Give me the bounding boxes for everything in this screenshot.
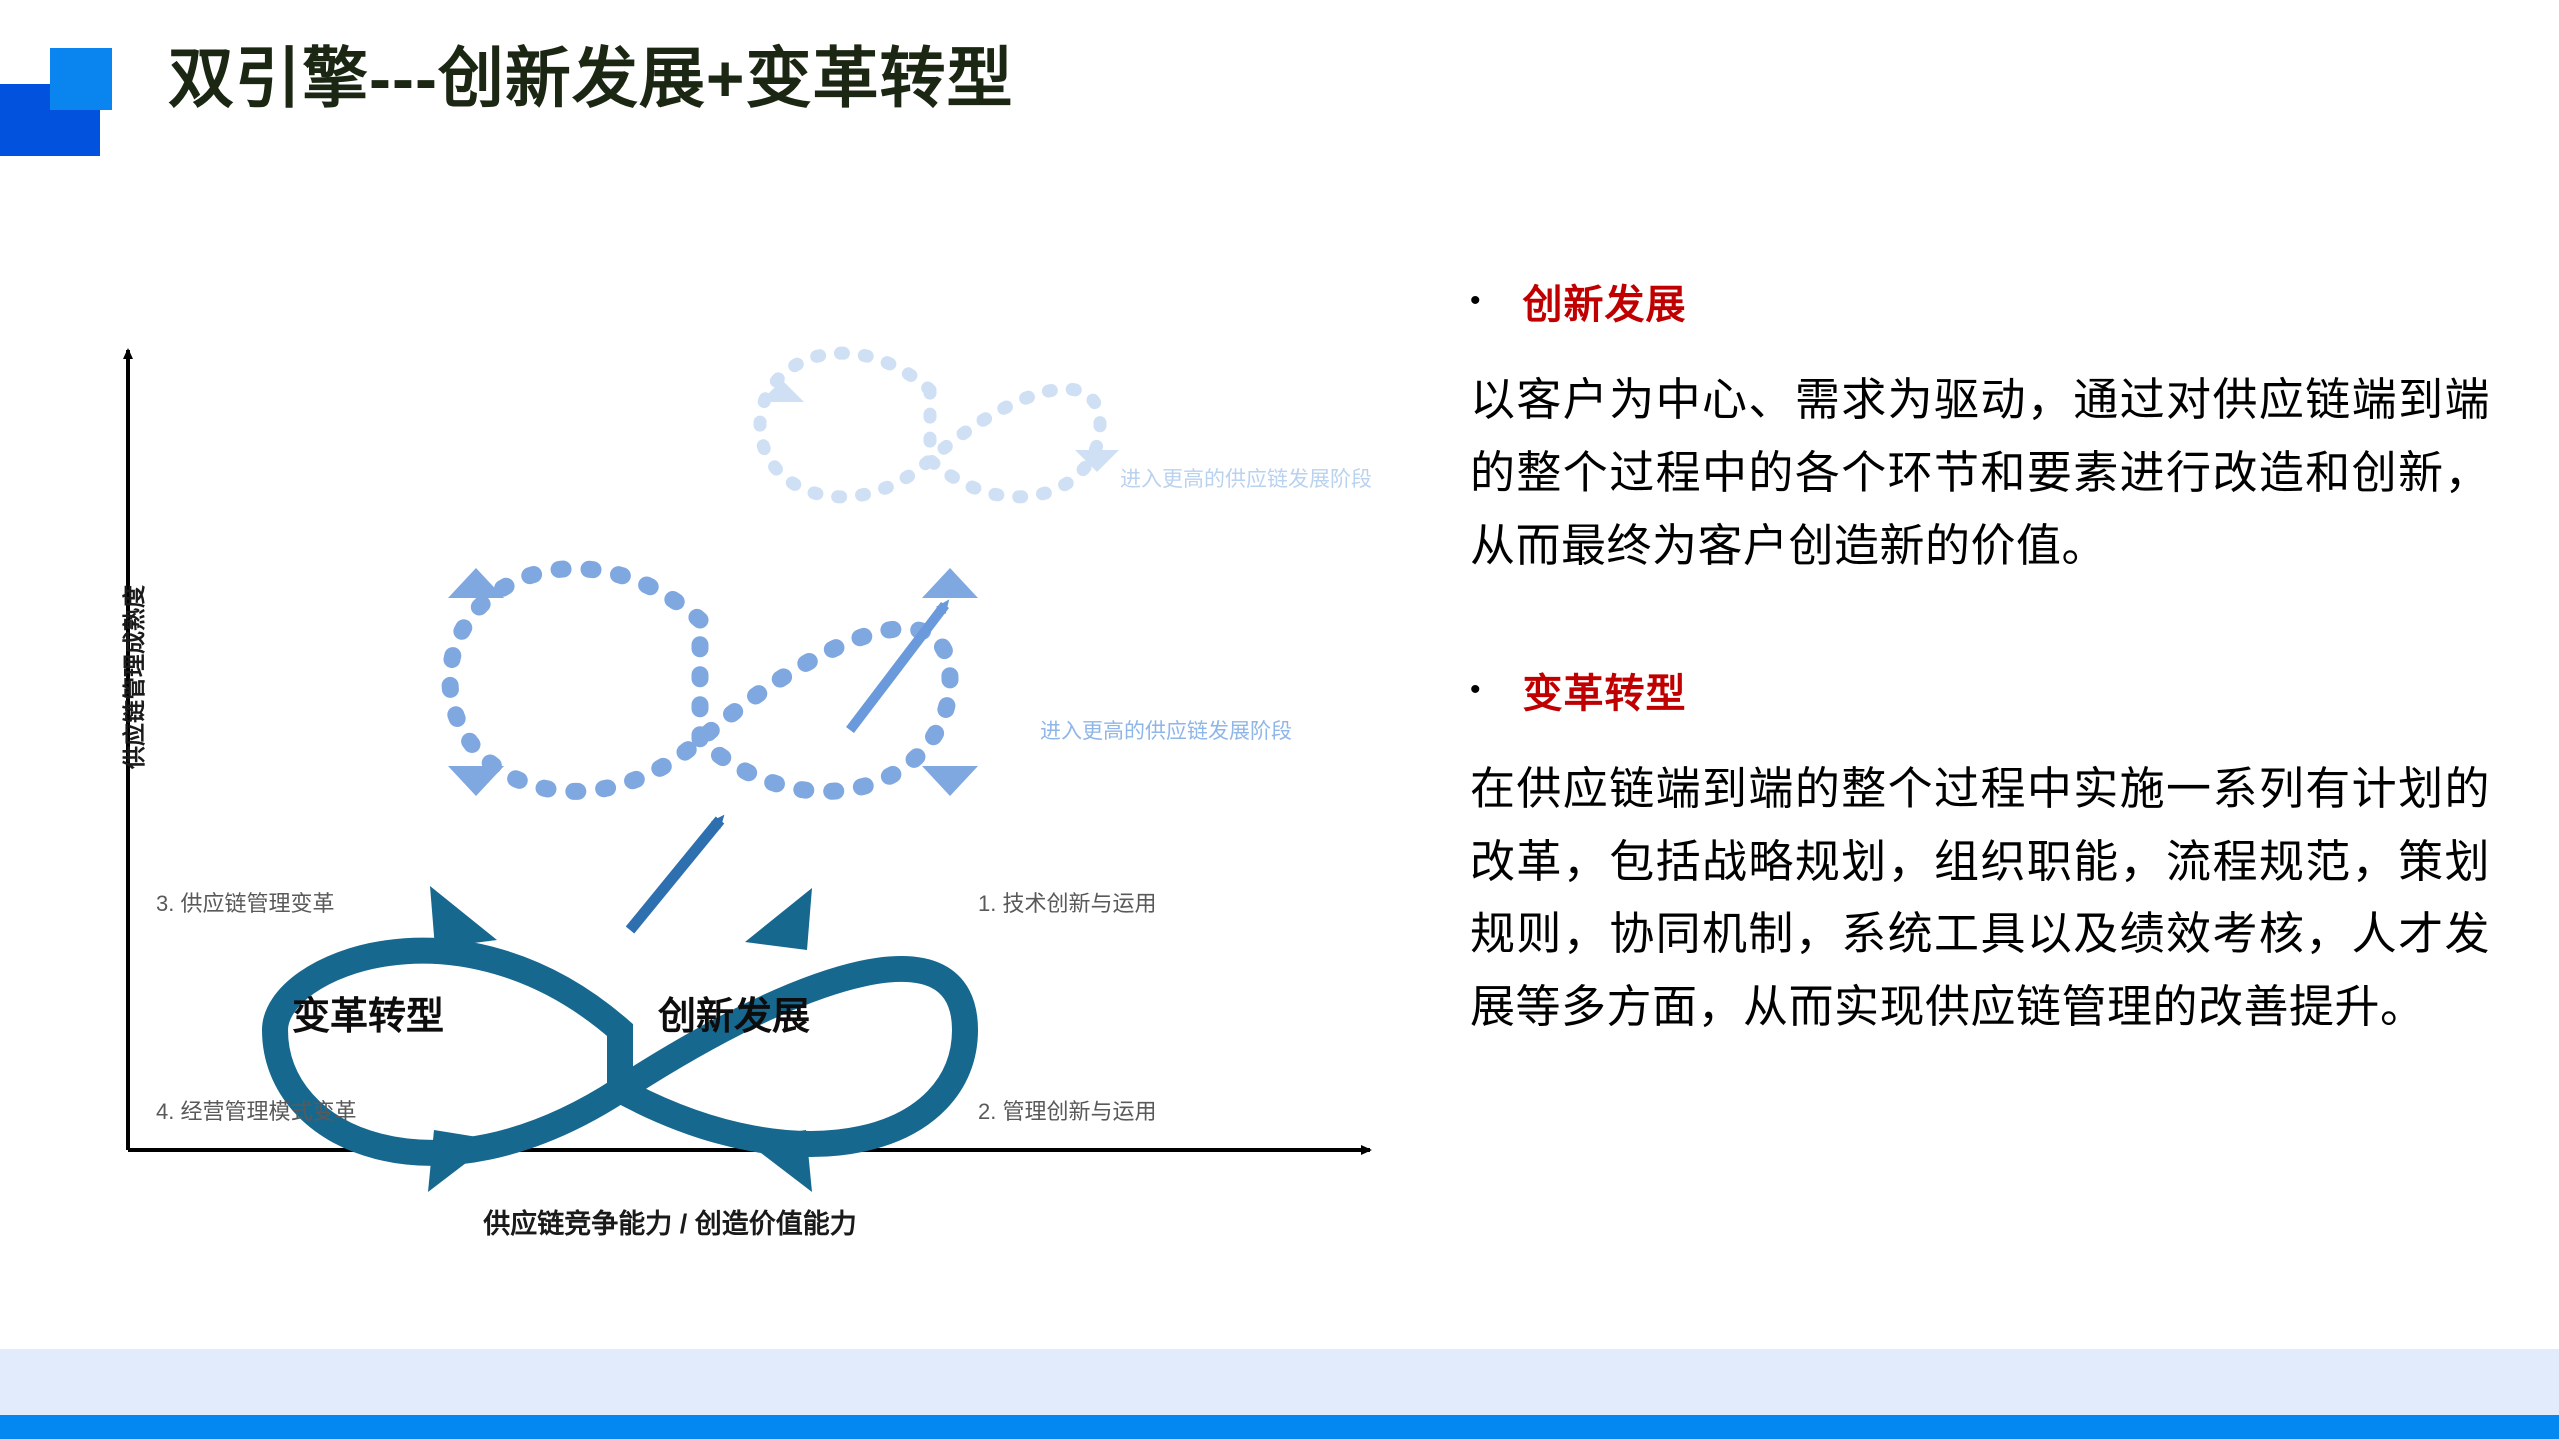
loop-core-label-right: 创新发展 [658,985,810,1040]
rise-arrow-lower [630,820,720,930]
side-label-4: 4. 经营管理模式变革 [156,1094,356,1126]
section-heading-2: 变革转型 [1523,661,1687,719]
logo-square-light-icon [50,48,112,110]
section-divider-spacer [1470,583,2490,661]
section-body-1: 以客户为中心、需求为驱动，通过对供应链端到端的整个过程中的各个环节和要素进行改造… [1470,364,2490,583]
bullet-dot-icon: • [1470,286,1481,316]
loop-core-label-left: 变革转型 [292,985,444,1040]
side-label-1: 1. 技术创新与运用 [978,886,1156,918]
side-label-2: 2. 管理创新与运用 [978,1094,1156,1126]
loop-arrow-bottom-left [428,1130,496,1192]
side-label-3: 3. 供应链管理变革 [156,886,334,918]
section-heading-row-1: • 创新发展 [1470,272,2490,330]
footer-accent-strip [0,1415,2559,1439]
bullet-dot-icon: • [1470,675,1481,705]
section-heading-1: 创新发展 [1523,272,1687,330]
x-axis-label: 供应链竞争能力 / 创造价值能力 [350,1202,990,1241]
ghost-stage-label-lower: 进入更高的供应链发展阶段 [1040,715,1292,745]
section-heading-row-2: • 变革转型 [1470,661,2490,719]
ghost-infinity-stage-2 [760,353,1119,497]
loop-arrow-top-right [745,888,812,950]
ghost-infinity-stage-1 [448,568,978,796]
supply-chain-double-engine-diagram: 供应链管理成熟度 供应链竞争能力 / 创造价值能力 变革转型 创新发展 1. 技… [60,330,1420,1310]
loop-arrow-bottom-right [744,1130,812,1192]
page-title: 双引擎---创新发展+变革转型 [168,42,1013,115]
section-body-2: 在供应链端到端的整个过程中实施一系列有计划的改革，包括战略规划，组织职能，流程规… [1470,753,2490,1045]
content-column: • 创新发展 以客户为中心、需求为驱动，通过对供应链端到端的整个过程中的各个环节… [1470,272,2490,1044]
header-logo [0,36,130,156]
ghost-stage-label-upper: 进入更高的供应链发展阶段 [1120,463,1372,493]
loop-arrow-top-left [430,886,497,948]
y-axis-label: 供应链管理成熟度 [115,547,149,807]
footer-band [0,1349,2559,1415]
